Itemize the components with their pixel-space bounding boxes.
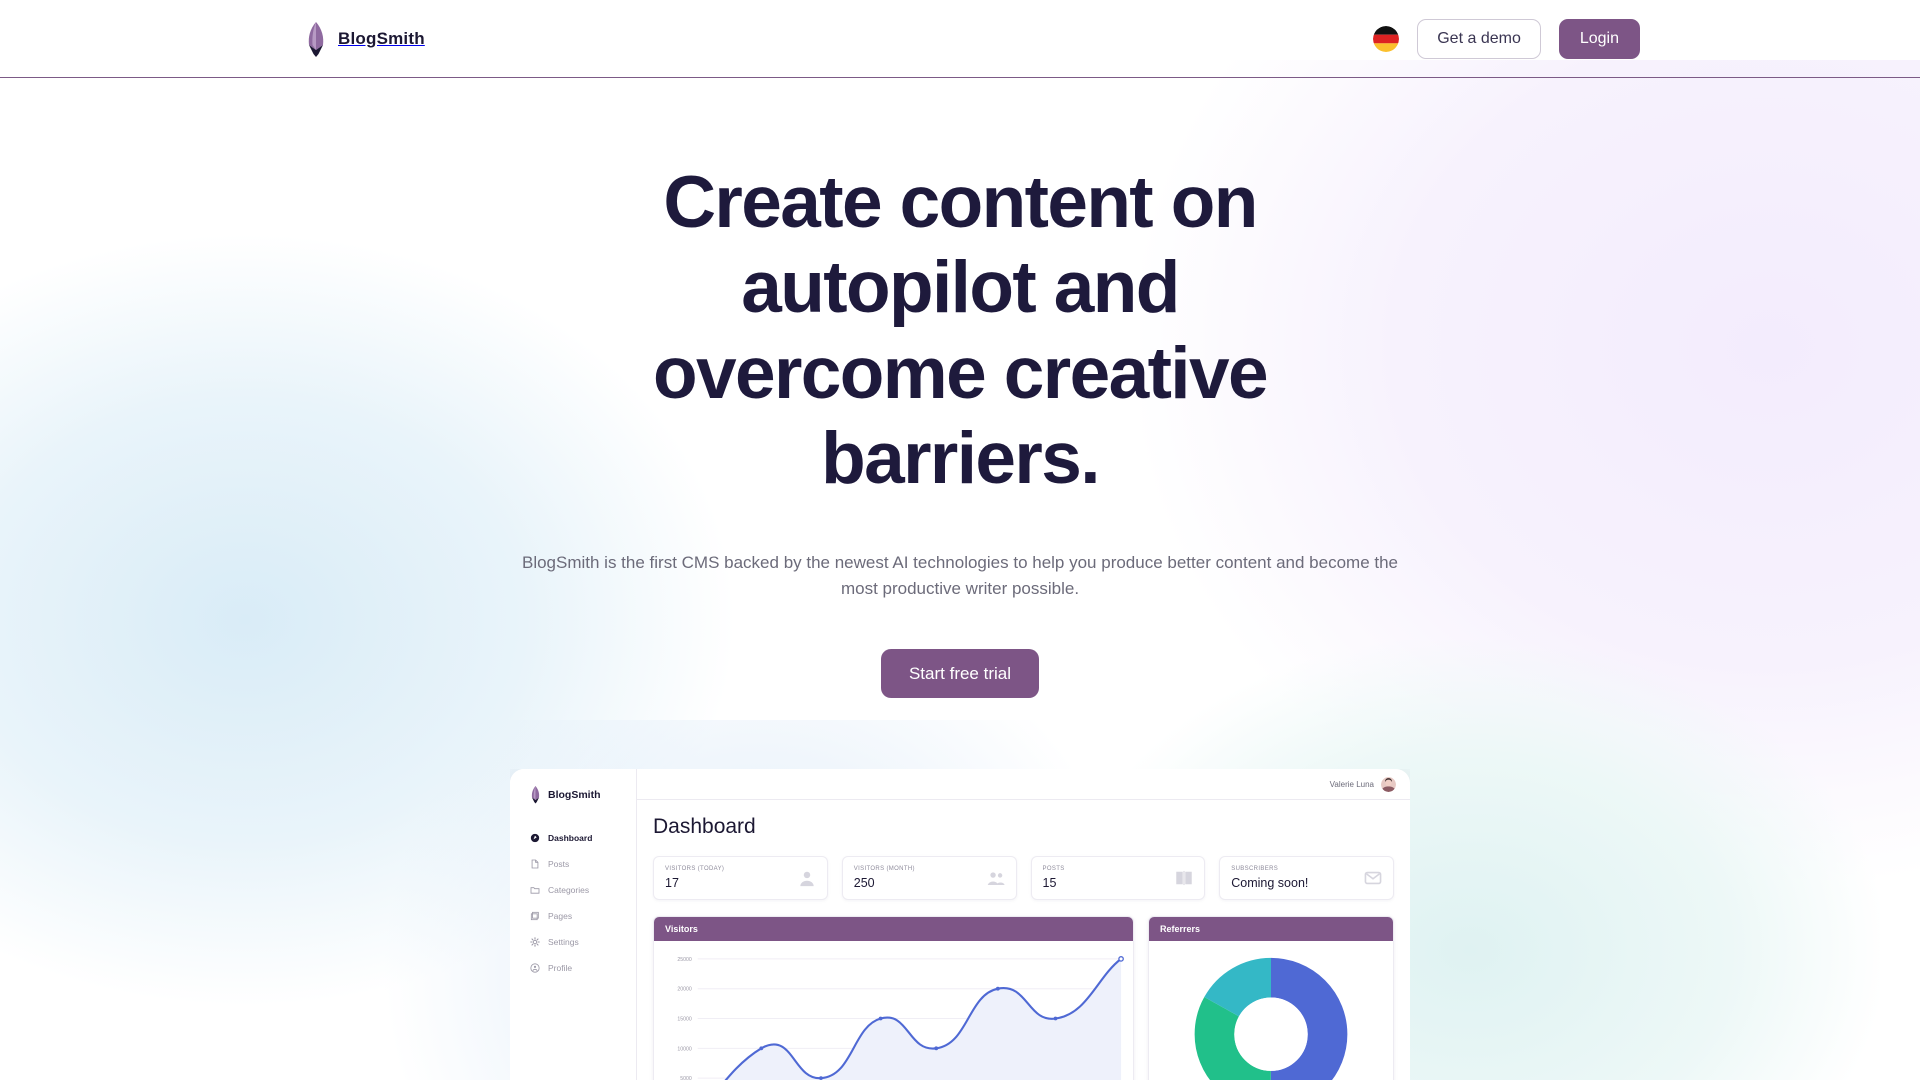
dashboard-icon (530, 833, 540, 843)
stat-value: 15 (1043, 876, 1065, 890)
referrers-chart-title: Referrers (1149, 917, 1393, 941)
y-tick-15000: 15000 (677, 1017, 691, 1023)
user-name: Valerie Luna (1330, 780, 1374, 789)
dashboard-preview-wrapper: BlogSmith Dashboard Posts Categories (510, 769, 1410, 1080)
quill-pen-icon (305, 21, 327, 57)
referrers-donut-chart (1149, 941, 1393, 1080)
folder-icon (530, 885, 540, 895)
visitors-chart-body: 25000 20000 15000 10000 5000 (654, 941, 1133, 1080)
header-actions: Get a demo Login (1373, 19, 1640, 59)
y-tick-25000: 25000 (677, 957, 691, 963)
mockup-brand-name: BlogSmith (548, 789, 601, 801)
users-icon (987, 869, 1005, 887)
sidebar-item-profile[interactable]: Profile (510, 955, 636, 981)
user-icon (798, 869, 816, 887)
pages-icon (530, 911, 540, 921)
gear-icon (530, 937, 540, 947)
stat-value: Coming soon! (1231, 876, 1308, 890)
mockup-body: Dashboard VISITORS (TODAY) 17 VISI (637, 800, 1410, 1080)
sidebar-item-categories[interactable]: Categories (510, 877, 636, 903)
mockup-main: Valerie Luna Dashboard (637, 769, 1410, 1080)
user-circle-icon (530, 963, 540, 973)
referrers-chart-body (1149, 941, 1393, 1080)
book-icon (1175, 869, 1193, 887)
mockup-brand: BlogSmith (510, 783, 636, 804)
get-a-demo-button[interactable]: Get a demo (1417, 19, 1541, 59)
hero-section: Create content on autopilot and overcome… (0, 78, 1920, 698)
dashboard-page-title: Dashboard (653, 815, 1394, 839)
envelope-icon (1364, 869, 1382, 887)
start-free-trial-button[interactable]: Start free trial (881, 649, 1039, 698)
sidebar-item-label: Profile (548, 963, 572, 973)
document-icon (530, 859, 540, 869)
visitors-line-chart: 25000 20000 15000 10000 5000 (654, 941, 1133, 1080)
visitors-chart-title: Visitors (654, 917, 1133, 941)
visitors-chart-card: Visitors 25000 20000 15000 (653, 916, 1134, 1080)
dashboard-preview: BlogSmith Dashboard Posts Categories (510, 769, 1410, 1080)
site-header: BlogSmith Get a demo Login (0, 0, 1920, 78)
hero-subtitle: BlogSmith is the first CMS backed by the… (510, 550, 1410, 603)
donut-hole (1234, 998, 1307, 1071)
sidebar-item-label: Categories (548, 885, 589, 895)
sidebar-item-pages[interactable]: Pages (510, 903, 636, 929)
y-tick-10000: 10000 (677, 1047, 691, 1053)
referrers-chart-card: Referrers (1148, 916, 1394, 1080)
y-tick-5000: 5000 (680, 1076, 692, 1080)
chart-cards: Visitors 25000 20000 15000 (653, 916, 1394, 1080)
visitors-area-fill (702, 959, 1121, 1080)
mockup-topbar: Valerie Luna (637, 769, 1410, 800)
sidebar-item-label: Settings (548, 937, 579, 947)
stat-value: 250 (854, 876, 915, 890)
brand-name: BlogSmith (338, 29, 425, 49)
german-flag-icon[interactable] (1373, 26, 1399, 52)
stat-value: 17 (665, 876, 724, 890)
avatar[interactable] (1381, 777, 1396, 792)
sidebar-item-settings[interactable]: Settings (510, 929, 636, 955)
stat-card-visitors-month: VISITORS (MONTH) 250 (842, 856, 1017, 900)
stat-cards: VISITORS (TODAY) 17 VISITORS (MONTH) 250 (653, 856, 1394, 900)
login-button[interactable]: Login (1559, 19, 1640, 59)
stat-label: SUBSCRIBERS (1231, 866, 1308, 872)
page-title: Create content on autopilot and overcome… (580, 160, 1340, 502)
sidebar-item-label: Posts (548, 859, 569, 869)
brand-logo-link[interactable]: BlogSmith (305, 21, 425, 57)
stat-card-subscribers: SUBSCRIBERS Coming soon! (1219, 856, 1394, 900)
stat-label: VISITORS (TODAY) (665, 866, 724, 872)
mockup-sidebar: BlogSmith Dashboard Posts Categories (510, 769, 637, 1080)
stat-card-posts: POSTS 15 (1031, 856, 1206, 900)
y-tick-20000: 20000 (677, 987, 691, 993)
sidebar-item-dashboard[interactable]: Dashboard (510, 825, 636, 851)
quill-pen-icon (530, 785, 541, 804)
sidebar-item-posts[interactable]: Posts (510, 851, 636, 877)
sidebar-item-label: Pages (548, 911, 572, 921)
sidebar-item-label: Dashboard (548, 833, 592, 843)
stat-card-visitors-today: VISITORS (TODAY) 17 (653, 856, 828, 900)
hero-cta-wrapper: Start free trial (0, 649, 1920, 698)
stat-label: POSTS (1043, 866, 1065, 872)
stat-label: VISITORS (MONTH) (854, 866, 915, 872)
